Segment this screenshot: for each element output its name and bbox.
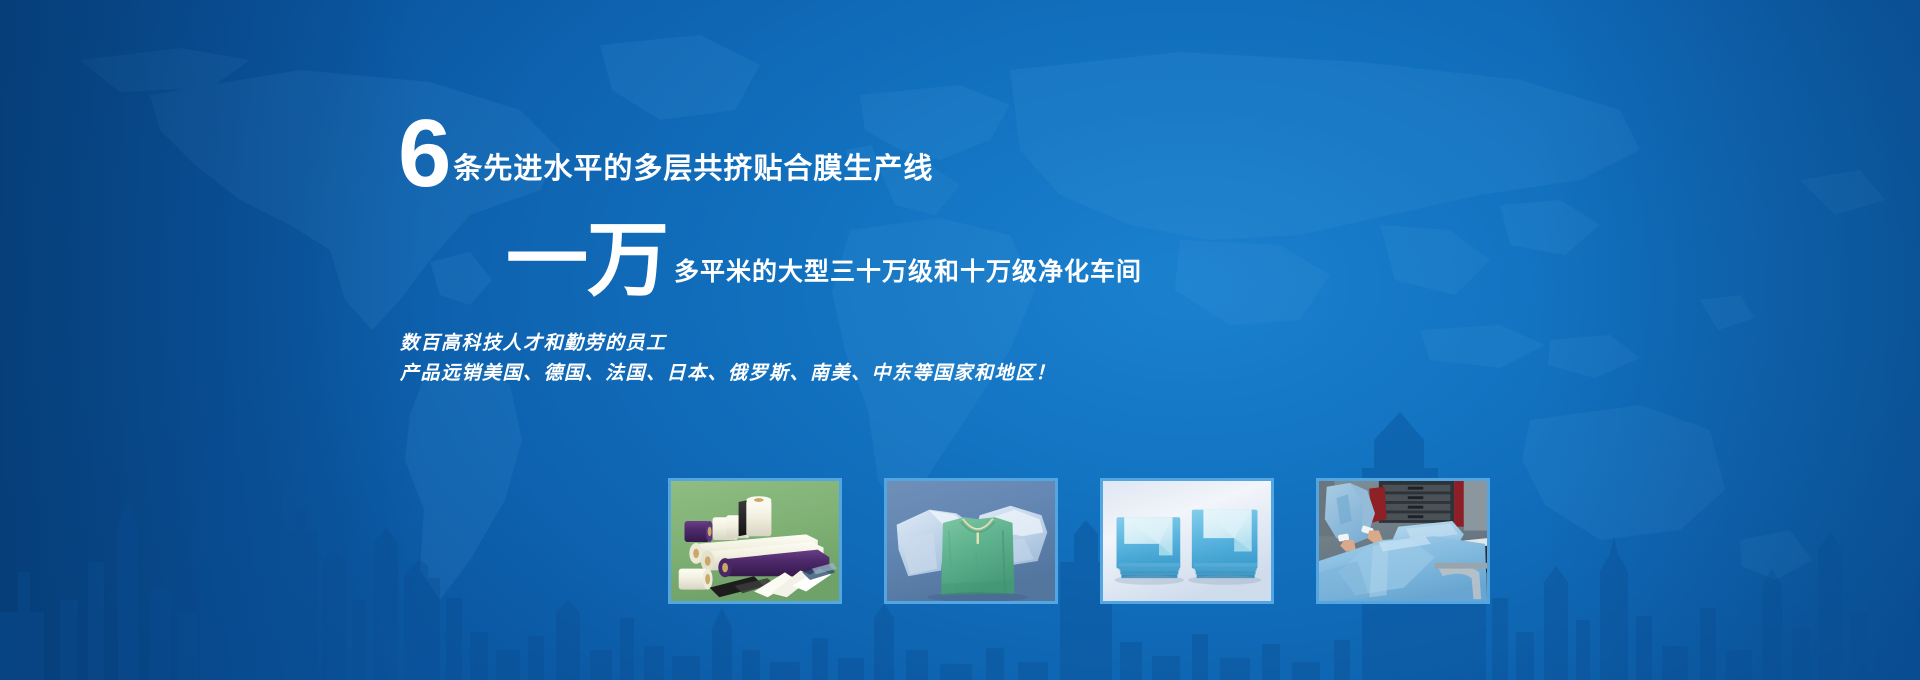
photo-surgical-gowns[interactable]: 一次性手术衣 bbox=[884, 478, 1058, 604]
photo-surgical-gowns-image bbox=[887, 481, 1055, 601]
photo-film-rolls[interactable]: 多层共挤贴合膜卷材 bbox=[668, 478, 842, 604]
stat-label-cleanroom-area: 多平米的大型三十万级和十万级净化车间 bbox=[668, 252, 1142, 296]
subtext-line-staff: 数百高科技人才和勤劳的员工 bbox=[400, 328, 1498, 358]
headline-line-2: 一万 多平米的大型三十万级和十万级净化车间 bbox=[398, 210, 1498, 296]
product-photo-strip: 多层共挤贴合膜卷材 bbox=[668, 478, 1490, 604]
photo-hospital-bed-linens[interactable]: 医用床单铺设 bbox=[1316, 478, 1490, 604]
stat-number-cleanroom-area: 一万 bbox=[506, 227, 668, 296]
photo-surgical-drapes-image bbox=[1103, 481, 1271, 601]
subtext-block: 数百高科技人才和勤劳的员工 产品远销美国、德国、法国、日本、俄罗斯、南美、中东等… bbox=[398, 328, 1498, 388]
stat-label-production-lines: 条先进水平的多层共挤贴合膜生产线 bbox=[449, 145, 933, 194]
promo-banner: 6 条先进水平的多层共挤贴合膜生产线 一万 多平米的大型三十万级和十万级净化车间… bbox=[0, 0, 1920, 680]
headline-line-1: 6 条先进水平的多层共挤贴合膜生产线 bbox=[398, 112, 1498, 194]
subtext-line-export: 产品远销美国、德国、法国、日本、俄罗斯、南美、中东等国家和地区！ bbox=[400, 358, 1498, 388]
photo-hospital-bed-linens-image bbox=[1319, 481, 1487, 601]
photo-film-rolls-image bbox=[671, 481, 839, 601]
photo-surgical-drapes[interactable]: 一次性护理垫 bbox=[1100, 478, 1274, 604]
headline-copy-block: 6 条先进水平的多层共挤贴合膜生产线 一万 多平米的大型三十万级和十万级净化车间… bbox=[398, 112, 1498, 388]
stat-number-production-lines: 6 bbox=[398, 115, 449, 194]
